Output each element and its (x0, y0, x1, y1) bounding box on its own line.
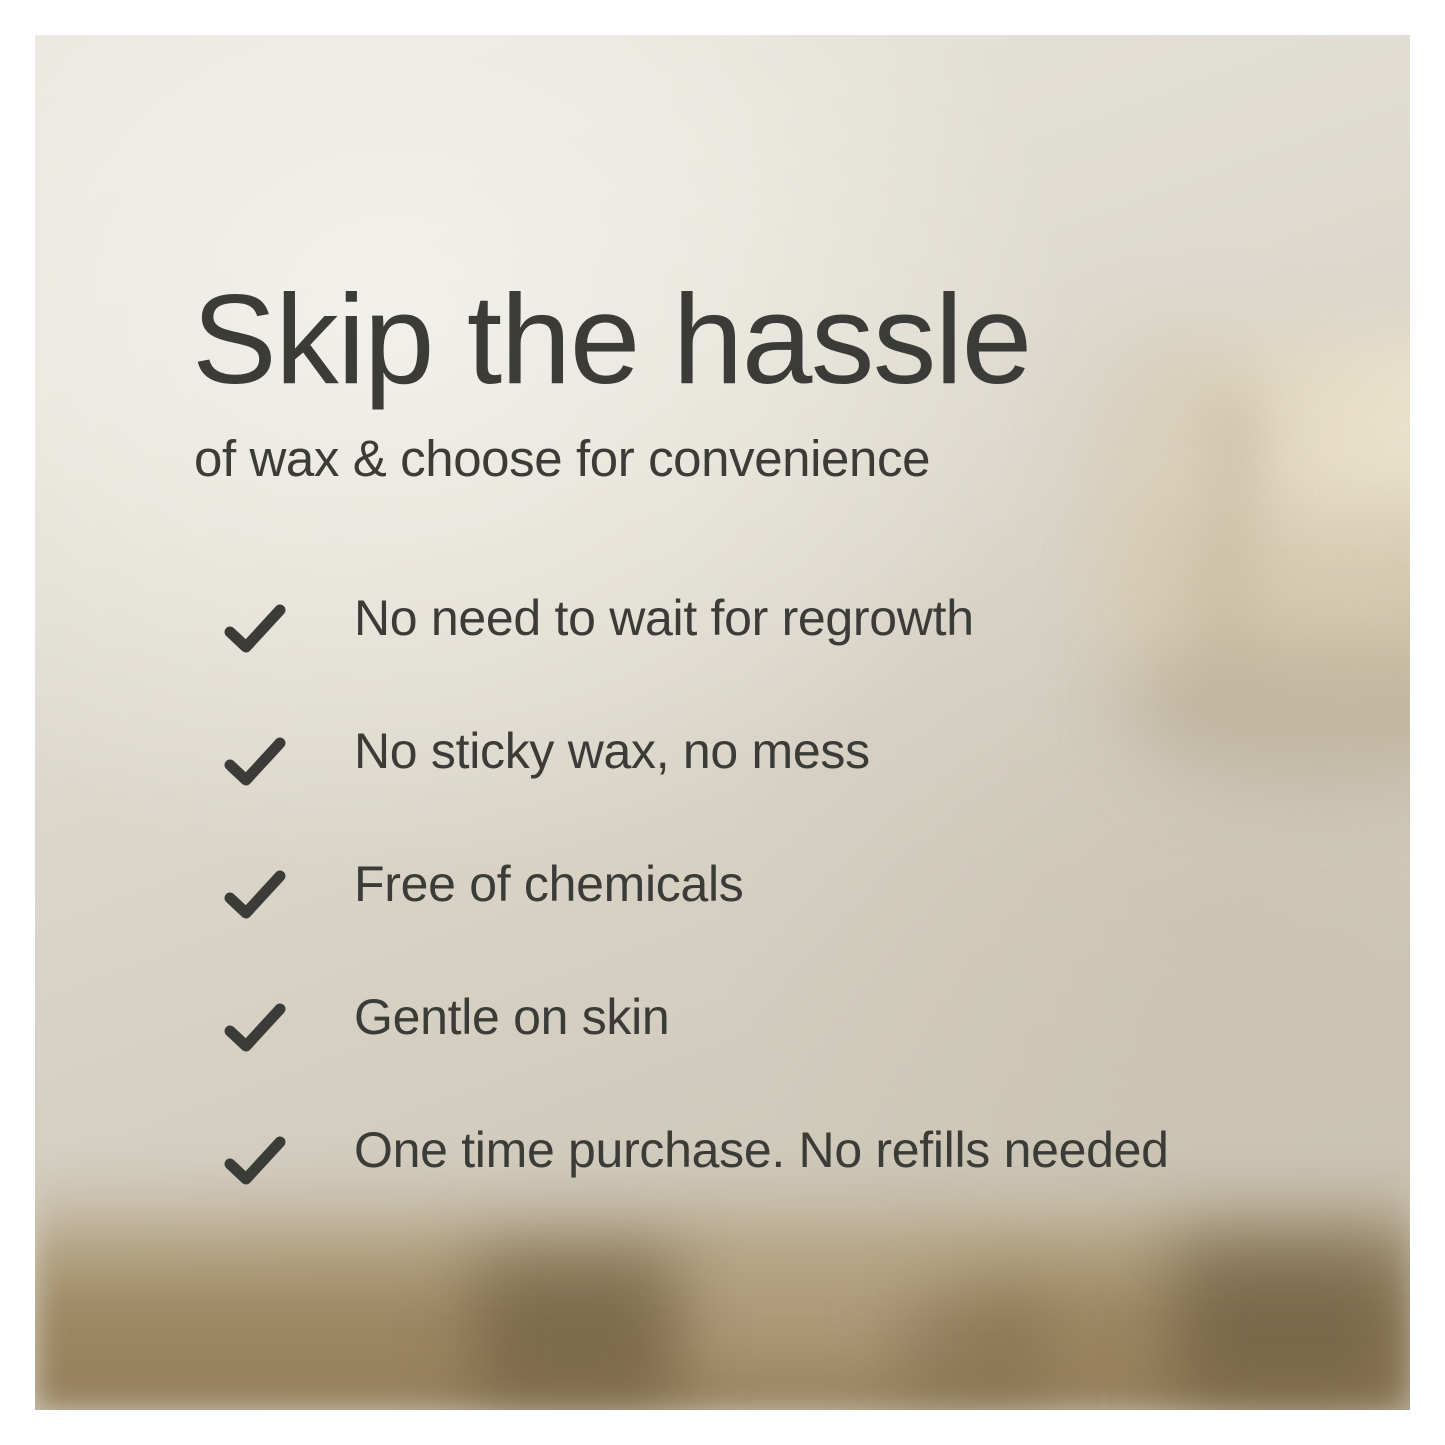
feature-label: Free of chemicals (354, 859, 743, 909)
check-icon (224, 601, 286, 657)
check-icon (224, 1133, 286, 1189)
feature-item: Gentle on skin (192, 992, 1372, 1125)
feature-item: No sticky wax, no mess (192, 726, 1372, 859)
overlay-content: Skip the hassle of wax & choose for conv… (35, 35, 1410, 1410)
feature-label: No need to wait for regrowth (354, 593, 974, 643)
headline: Skip the hassle (192, 273, 1031, 406)
feature-item: Free of chemicals (192, 859, 1372, 992)
feature-item: No need to wait for regrowth (192, 593, 1372, 726)
feature-label: One time purchase. No refills needed (354, 1125, 1169, 1175)
feature-label: No sticky wax, no mess (354, 726, 870, 776)
feature-label: Gentle on skin (354, 992, 669, 1042)
photo-frame: Skip the hassle of wax & choose for conv… (35, 35, 1410, 1410)
check-icon (224, 1000, 286, 1056)
check-icon (224, 867, 286, 923)
subheadline: of wax & choose for convenience (194, 431, 930, 487)
promo-graphic: Skip the hassle of wax & choose for conv… (0, 0, 1445, 1445)
check-icon (224, 734, 286, 790)
feature-item: One time purchase. No refills needed (192, 1125, 1372, 1258)
feature-list: No need to wait for regrowth No sticky w… (192, 593, 1372, 1258)
